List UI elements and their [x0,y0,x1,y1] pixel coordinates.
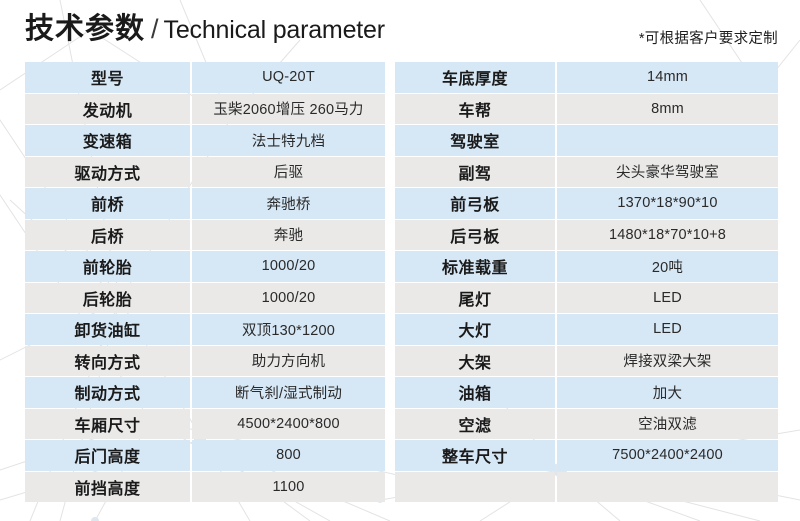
spec-label: 后门高度 [25,440,190,471]
spec-label: 驱动方式 [25,157,190,188]
table-row: 车帮8mm [395,94,778,125]
table-row: 副驾尖头豪华驾驶室 [395,157,778,188]
spec-value: 焊接双梁大架 [557,346,778,377]
spec-table-left: 型号UQ-20T发动机玉柴2060增压 260马力变速箱法士特九档驱动方式后驱前… [25,62,385,503]
spec-table-right: 车底厚度14mm车帮8mm驾驶室副驾尖头豪华驾驶室前弓板1370*18*90*1… [395,62,778,503]
table-row: 车底厚度14mm [395,62,778,93]
spec-label: 前弓板 [395,188,555,219]
table-row: 后桥奔驰 [25,220,385,251]
table-row: 后轮胎1000/20 [25,283,385,314]
spec-label: 型号 [25,62,190,93]
spec-value: 20吨 [557,251,778,282]
spec-label: 车帮 [395,94,555,125]
spec-value: 奔驰桥 [192,188,385,219]
page-header: 技术参数/Technical parameter *可根据客户要求定制 [0,0,800,58]
spec-label: 后轮胎 [25,283,190,314]
customization-note: *可根据客户要求定制 [639,27,778,48]
table-row: 转向方式助力方向机 [25,346,385,377]
spec-value: 断气刹/湿式制动 [192,377,385,408]
spec-value: LED [557,283,778,314]
spec-label: 大架 [395,346,555,377]
spec-label: 转向方式 [25,346,190,377]
spec-label: 大灯 [395,314,555,345]
table-row: 型号UQ-20T [25,62,385,93]
page-title: 技术参数/Technical parameter [25,15,385,44]
table-row: 前轮胎1000/20 [25,251,385,282]
spec-label: 空滤 [395,409,555,440]
table-row: 后弓板1480*18*70*10+8 [395,220,778,251]
page-title-separator: / [151,14,159,44]
table-row: 车厢尺寸4500*2400*800 [25,409,385,440]
table-row: 标准载重20吨 [395,251,778,282]
spec-label: 发动机 [25,94,190,125]
spec-label: 尾灯 [395,283,555,314]
page-title-en: Technical parameter [164,16,385,44]
spec-label: 驾驶室 [395,125,555,156]
spec-value: 助力方向机 [192,346,385,377]
spec-value: 玉柴2060增压 260马力 [192,94,385,125]
spec-label: 制动方式 [25,377,190,408]
table-row: 整车尺寸7500*2400*2400 [395,440,778,471]
spec-value: 后驱 [192,157,385,188]
spec-value: LED [557,314,778,345]
spec-value: 800 [192,440,385,471]
spec-label: 前轮胎 [25,251,190,282]
spec-value: 4500*2400*800 [192,409,385,440]
table-row: 大架焊接双梁大架 [395,346,778,377]
spec-sheet-page: 技术参数/Technical parameter *可根据客户要求定制 型号UQ… [0,0,800,521]
table-row: 大灯LED [395,314,778,345]
spec-label: 副驾 [395,157,555,188]
spec-label: 车底厚度 [395,62,555,93]
spec-value: 加大 [557,377,778,408]
spec-label: 卸货油缸 [25,314,190,345]
spec-label: 标准载重 [395,251,555,282]
table-row: 发动机玉柴2060增压 260马力 [25,94,385,125]
spec-label: 变速箱 [25,125,190,156]
spec-value: 空油双滤 [557,409,778,440]
spec-value: 14mm [557,62,778,93]
spec-value: 8mm [557,94,778,125]
table-row: 制动方式断气刹/湿式制动 [25,377,385,408]
table-row: 卸货油缸双顶130*1200 [25,314,385,345]
spec-label [395,472,555,503]
spec-value: 1100 [192,472,385,503]
spec-label: 整车尺寸 [395,440,555,471]
table-row: 驾驶室 [395,125,778,156]
spec-value: 奔驰 [192,220,385,251]
spec-value: 1000/20 [192,283,385,314]
spec-label: 前桥 [25,188,190,219]
spec-value: 尖头豪华驾驶室 [557,157,778,188]
page-title-cn: 技术参数 [25,13,145,45]
table-row: 前弓板1370*18*90*10 [395,188,778,219]
table-row [395,472,778,503]
table-row: 变速箱法士特九档 [25,125,385,156]
spec-value: 双顶130*1200 [192,314,385,345]
spec-value [557,125,778,156]
spec-label: 车厢尺寸 [25,409,190,440]
spec-value [557,472,778,503]
table-row: 前桥奔驰桥 [25,188,385,219]
table-row: 空滤空油双滤 [395,409,778,440]
table-row: 油箱加大 [395,377,778,408]
spec-value: UQ-20T [192,62,385,93]
table-row: 前挡高度1100 [25,472,385,503]
spec-label: 前挡高度 [25,472,190,503]
spec-label: 油箱 [395,377,555,408]
spec-value: 1000/20 [192,251,385,282]
table-row: 尾灯LED [395,283,778,314]
spec-label: 后弓板 [395,220,555,251]
table-row: 驱动方式后驱 [25,157,385,188]
spec-label: 后桥 [25,220,190,251]
table-row: 后门高度800 [25,440,385,471]
spec-value: 1370*18*90*10 [557,188,778,219]
spec-value: 法士特九档 [192,125,385,156]
spec-value: 7500*2400*2400 [557,440,778,471]
spec-value: 1480*18*70*10+8 [557,220,778,251]
